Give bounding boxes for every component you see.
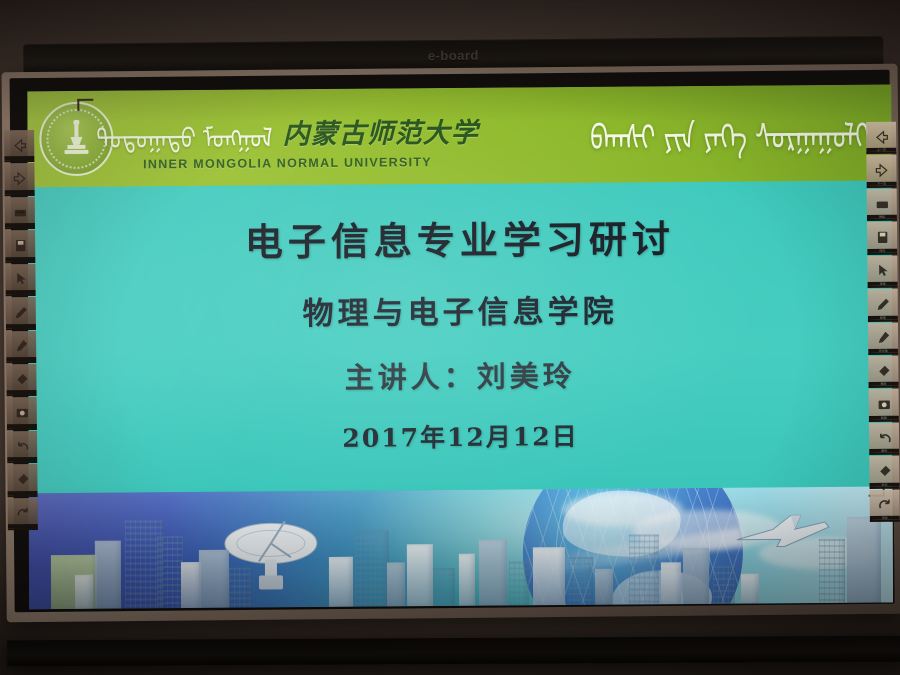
toolbar-right-label-6: 荧光笔 [868,349,898,353]
registration-mark-top-left [77,99,93,111]
toolbar-left-pen-icon[interactable] [6,297,36,330]
right-toolbar[interactable]: 上一页 下一页 键盘 保存 选择 [866,122,900,522]
toolbar-left-eraser-icon[interactable] [6,364,36,397]
board-brand-label: e-board [23,44,883,67]
toolbar-right-label-5: 画笔 [868,315,898,319]
board-frame: ᠳᠣᠲᠣᠭᠠᠳᠤ ᠮᠣᠩᠭᠣᠯ 内蒙古师范大学 INNER MONGOLIA N… [2,64,900,623]
left-toolbar[interactable] [4,130,38,530]
toolbar-left-next-page-icon[interactable] [4,163,34,196]
toolbar-left-undo-icon[interactable] [7,431,37,464]
slide-body: 电子信息专业学习研讨 物理与电子信息学院 主讲人：刘美玲 2017年12月12日 [28,181,893,494]
board-bottom-bezel [7,636,900,667]
slide-speaker: 主讲人：刘美玲 [345,353,576,397]
toolbar-right-marker-icon[interactable]: 荧光笔 [868,322,898,355]
slide-canvas: ᠳᠣᠲᠣᠭᠠᠳᠤ ᠮᠣᠩᠭᠣᠯ 内蒙古师范大学 INNER MONGOLIA N… [27,85,893,610]
toolbar-right-pen-icon[interactable]: 画笔 [868,289,898,322]
toolbar-right-label-0: 上一页 [866,148,896,152]
city-skyline [29,511,893,610]
toolbar-right-label-9: 撤销 [869,449,899,453]
toolbar-right-label-4: 选择 [868,282,898,286]
toolbar-right-next-page-icon[interactable]: 下一页 [866,155,896,188]
toolbar-right-label-10: 标记 [869,482,899,486]
toolbar-right-label-8: 截图 [869,416,899,420]
toolbar-left-save-icon[interactable] [5,230,35,263]
university-name-english: INNER MONGOLIA NORMAL UNIVERSITY [143,155,432,171]
mongolian-script-left: ᠳᠣᠲᠣᠭᠠᠳᠤ ᠮᠣᠩᠭᠣᠯ [96,108,272,157]
crest-monument-icon [61,117,91,161]
toolbar-right-highlighter-icon[interactable]: 标记 [869,456,899,489]
toolbar-left-keyboard-icon[interactable] [5,197,35,230]
interactive-whiteboard: e-board [1,36,900,623]
toolbar-right-previous-page-icon[interactable]: 上一页 [866,122,896,155]
toolbar-right-redo-icon[interactable]: 恢复 [870,489,900,522]
toolbar-left-select-icon[interactable] [5,264,35,297]
university-name-block: ᠳᠣᠲᠣᠭᠠᠳᠤ ᠮᠣᠩᠭᠣᠯ 内蒙古师范大学 INNER MONGOLIA N… [127,104,447,172]
toolbar-right-label-11: 恢复 [870,516,900,520]
toolbar-right-undo-icon[interactable]: 撤销 [869,423,899,456]
toolbar-left-highlighter-icon[interactable] [7,464,37,497]
toolbar-left-marker-icon[interactable] [6,331,36,364]
mongolian-script-right: ᠪᠠᠭᠰᠢ ᠶᠢᠨ ᠶᠡᠬᠡ ᠰᠤᠷᠭᠠᠭᠣᠯᠢ [590,97,870,161]
room-background: e-board [0,0,900,675]
slide-header-band: ᠳᠣᠲᠣᠭᠠᠳᠤ ᠮᠣᠩᠭᠣᠯ 内蒙古师范大学 INNER MONGOLIA N… [27,85,891,188]
slide-title: 电子信息专业学习研讨 [245,208,675,266]
toolbar-left-camera-icon[interactable] [7,397,37,430]
toolbar-right-eraser-icon[interactable]: 橡皮 [868,356,898,389]
toolbar-right-save-icon[interactable]: 保存 [867,222,897,255]
slide-footer-artwork [29,487,893,610]
projected-slide: ᠳᠣᠲᠣᠭᠠᠳᠤ ᠮᠣᠩᠭᠣᠯ 内蒙古师范大学 INNER MONGOLIA N… [27,85,893,610]
toolbar-right-select-icon[interactable]: 选择 [867,255,897,288]
toolbar-right-label-1: 下一页 [867,182,897,186]
university-name-chinese: 内蒙古师范大学 [282,110,478,151]
toolbar-right-keyboard-icon[interactable]: 键盘 [867,189,897,222]
board-inner-panel: ᠳᠣᠲᠣᠭᠠᠳᠤ ᠮᠣᠩᠭᠣᠯ 内蒙古师范大学 INNER MONGOLIA N… [10,70,895,612]
toolbar-right-camera-icon[interactable]: 截图 [869,389,899,422]
toolbar-right-label-3: 保存 [867,248,897,252]
toolbar-right-label-2: 键盘 [867,215,897,219]
toolbar-right-label-7: 橡皮 [869,382,899,386]
slide-date: 2017年12月12日 [342,417,578,455]
slide-subtitle: 物理与电子信息学院 [302,286,617,333]
toolbar-left-previous-page-icon[interactable] [4,130,34,163]
toolbar-left-redo-icon[interactable] [8,498,38,531]
